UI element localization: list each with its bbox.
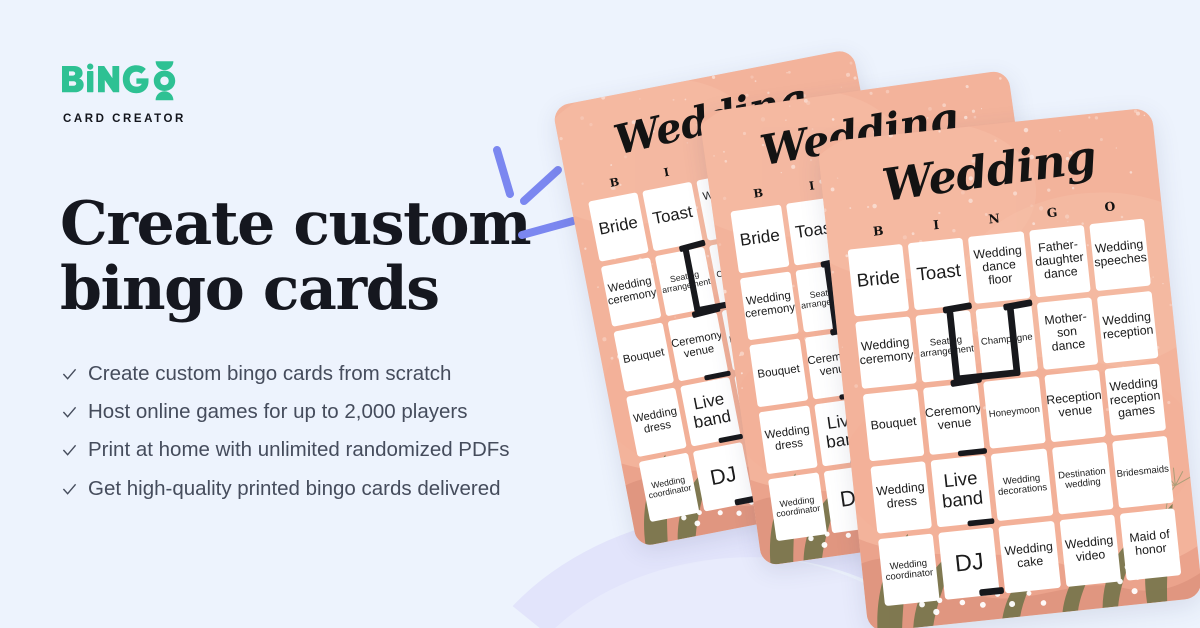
bingo-cell[interactable]: Bride — [848, 244, 910, 317]
check-icon — [62, 482, 77, 497]
bingo-cell[interactable]: Father-daughter dance — [1029, 225, 1091, 298]
bingo-card-front[interactable]: WeddingBINGOBrideToastWedding dance floo… — [817, 107, 1200, 628]
check-icon — [62, 367, 77, 382]
bingo-cell[interactable]: Wedding coordinator — [768, 472, 827, 541]
bingo-cell[interactable]: Wedding coordinator — [639, 452, 700, 522]
bingo-cell[interactable]: Wedding dress — [626, 387, 687, 457]
bingo-card-stack: WeddingBINGOBrideToastWedding dance floo… — [560, 0, 1200, 628]
bingo-cell[interactable]: Bouquet — [613, 322, 674, 392]
bingo-cell[interactable]: Bouquet — [749, 338, 808, 407]
list-item-label: Host online games for up to 2,000 player… — [88, 399, 467, 425]
bingo-cell[interactable]: Wedding dance floor — [968, 231, 1030, 304]
bingo-grid: BrideToastWedding dance floorFather-daug… — [848, 219, 1182, 607]
bingo-cell[interactable]: Bouquet — [863, 389, 925, 462]
list-item-label: Create custom bingo cards from scratch — [88, 361, 451, 387]
brand-logo[interactable]: CARD CREATOR — [60, 58, 290, 125]
bingo-cell[interactable]: Wedding ceremony — [855, 316, 917, 389]
bingo-cell[interactable]: Wedding dress — [759, 405, 818, 474]
bingo-cell[interactable]: Wedding reception — [1097, 291, 1159, 364]
bingo-cell[interactable]: Wedding coordinator — [878, 534, 940, 607]
list-item-label: Get high-quality printed bingo cards del… — [88, 476, 501, 502]
bingo-cell[interactable]: Wedding dress — [870, 461, 932, 534]
bingo-cell[interactable]: Bridesmaids — [1112, 436, 1174, 509]
bingo-cell[interactable]: Toast — [908, 238, 970, 311]
brand-tagline: CARD CREATOR — [63, 113, 290, 125]
bingo-cell[interactable]: Honeymoon — [984, 376, 1046, 449]
bingo-cell[interactable]: Wedding ceremony — [601, 257, 662, 327]
bingo-cell[interactable]: Wedding decorations — [991, 448, 1053, 521]
bingo-cell[interactable]: Reception venue — [1044, 370, 1106, 443]
bingo-cell[interactable]: Ceremony venue — [668, 312, 729, 382]
bingo-cell[interactable]: Mother-son dance — [1036, 297, 1098, 370]
headline-line-2: bingo cards — [60, 257, 580, 322]
list-item-label: Print at home with unlimited randomized … — [88, 437, 510, 463]
bingo-wordmark-icon — [60, 58, 180, 106]
bingo-cell[interactable]: Wedding speeches — [1089, 219, 1151, 292]
headline-line-1: Create custom — [60, 189, 530, 259]
bingo-cell[interactable]: Wedding ceremony — [740, 271, 799, 340]
bingo-cell[interactable]: Maid of honor — [1119, 508, 1181, 581]
bingo-cell[interactable]: Destination wedding — [1052, 442, 1114, 515]
bingo-cell[interactable]: Wedding video — [1059, 514, 1121, 587]
bingo-cell[interactable]: Ceremony venue — [923, 382, 985, 455]
check-icon — [62, 443, 77, 458]
bingo-cell[interactable]: Bride — [730, 204, 789, 273]
bingo-cell[interactable]: Bride — [588, 192, 649, 262]
check-icon — [62, 405, 77, 420]
bingo-cell[interactable]: Wedding reception games — [1104, 363, 1166, 436]
bingo-cell[interactable]: Toast — [642, 182, 703, 252]
bingo-cell[interactable]: Live band — [931, 455, 993, 528]
promo-banner: CARD CREATOR Create custom bingo cards C… — [0, 0, 1200, 628]
bingo-cell[interactable]: Wedding cake — [999, 521, 1061, 594]
